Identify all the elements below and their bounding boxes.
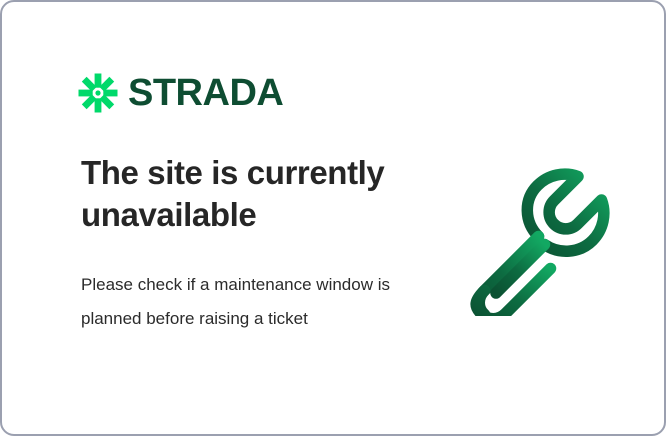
- status-card: STRADA The site is currently unavailable…: [0, 0, 666, 436]
- brand-wordmark: STRADA: [128, 74, 283, 112]
- wrench-icon: [454, 150, 620, 316]
- status-description: Please check if a maintenance window is …: [81, 268, 411, 336]
- page-title: The site is currently unavailable: [81, 152, 421, 235]
- strada-asterisk-mark-icon: [78, 73, 118, 113]
- brand-logo: STRADA: [78, 70, 283, 116]
